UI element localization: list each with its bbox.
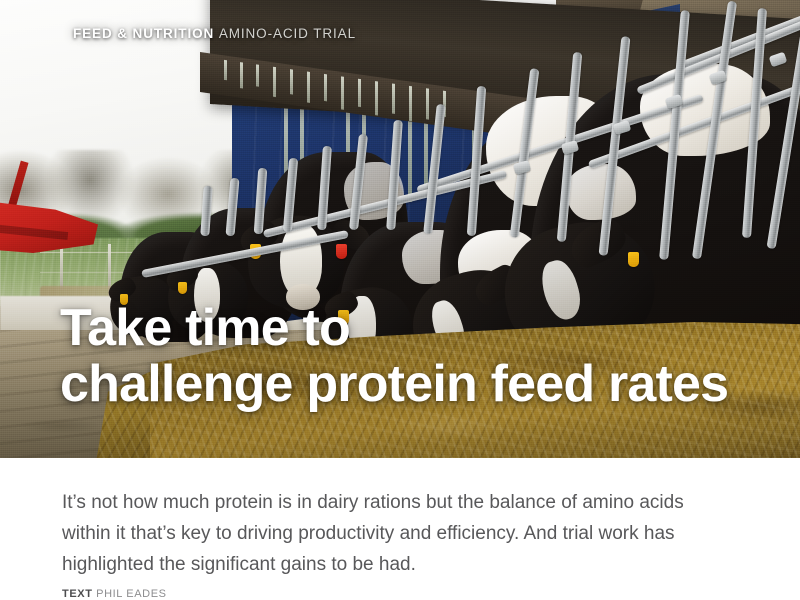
headline-line-2: challenge protein feed rates — [60, 356, 790, 412]
standfirst: It’s not how much protein is in dairy ra… — [62, 487, 722, 580]
byline: TEXT PHIL EADES — [62, 588, 167, 600]
barrier-post — [599, 36, 631, 256]
barrier-rail — [416, 94, 704, 194]
barrier-clamp — [513, 160, 531, 175]
byline-label: TEXT — [62, 588, 93, 600]
barrier-post — [349, 134, 368, 230]
barrier-post — [225, 178, 239, 237]
kicker-section: FEED & NUTRITION — [73, 26, 214, 41]
article-kicker: FEED & NUTRITION AMINO-ACID TRIAL — [73, 26, 356, 41]
hero-image: FEED & NUTRITION AMINO-ACID TRIAL Take t… — [0, 0, 800, 458]
barrier-rail — [141, 230, 349, 278]
page-title: Take time to challenge protein feed rate… — [60, 300, 790, 412]
kicker-topic: AMINO-ACID TRIAL — [219, 26, 356, 41]
byline-author: PHIL EADES — [96, 588, 166, 600]
barrier-post — [423, 104, 446, 234]
barrier-post — [467, 86, 486, 236]
barrier-post — [692, 1, 737, 260]
article-intro-block: It’s not how much protein is in dairy ra… — [0, 458, 800, 600]
barrier-clamp — [769, 52, 788, 68]
headline-line-1: Take time to — [60, 300, 790, 356]
barrier-post — [386, 120, 403, 230]
barrier-post — [254, 168, 268, 234]
article-page: FEED & NUTRITION AMINO-ACID TRIAL Take t… — [0, 0, 800, 600]
barrier-post — [200, 186, 212, 237]
